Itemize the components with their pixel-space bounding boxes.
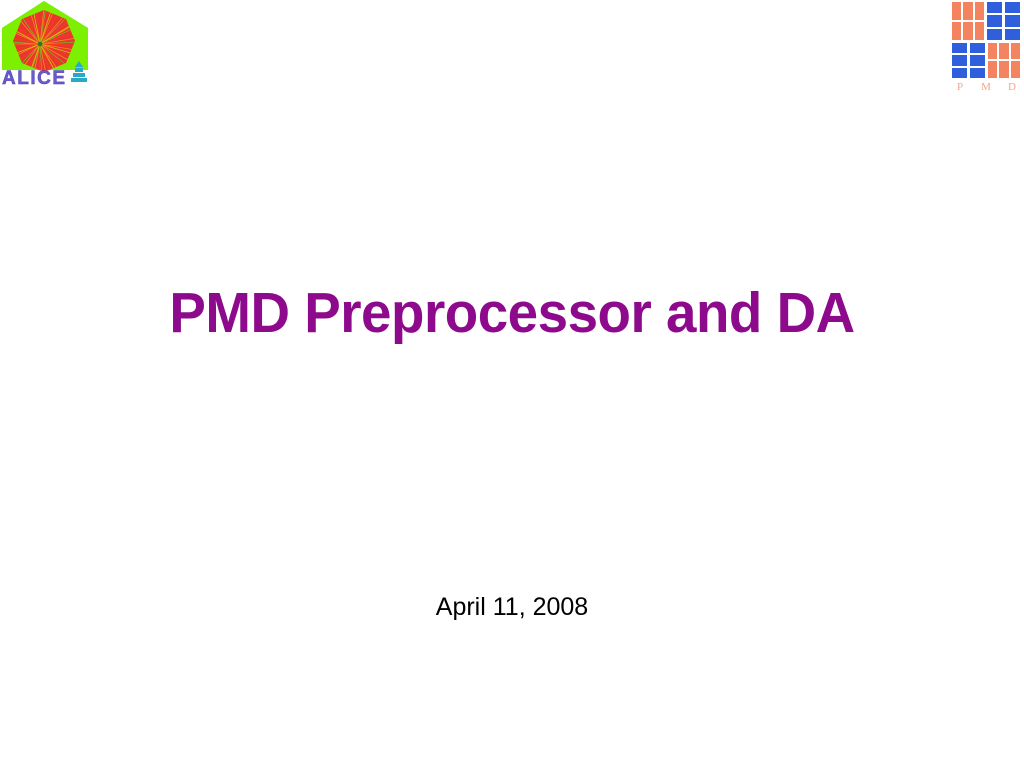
slide-canvas: ALICE — [0, 0, 1024, 768]
subtitle-placeholder: April 11, 2008 — [0, 592, 1024, 622]
pmd-bar — [988, 61, 997, 78]
pmd-bar — [1005, 29, 1020, 40]
pmd-bar — [952, 22, 961, 40]
pmd-block-blue-tr-1 — [987, 2, 1002, 40]
pmd-block-blue-bl-2 — [970, 43, 985, 78]
pmd-bar — [952, 68, 967, 78]
alice-experiment-logo: ALICE — [0, 0, 92, 92]
pmd-block-blue-bl-1 — [952, 43, 967, 78]
title-placeholder: PMD Preprocessor and DA — [0, 282, 1024, 346]
pmd-bar — [987, 2, 1002, 13]
pmd-bar — [952, 2, 961, 20]
slide-title: PMD Preprocessor and DA — [20, 282, 1003, 346]
pmd-bar — [1011, 61, 1020, 78]
pmd-bar — [1011, 43, 1020, 59]
pmd-block-orange-tl-2 — [952, 22, 984, 40]
pmd-bar — [975, 22, 984, 40]
pmd-bar — [970, 55, 985, 65]
pmd-bar — [970, 43, 985, 53]
pmd-bar — [988, 43, 997, 59]
pmd-block-blue-tr-2 — [1005, 2, 1020, 40]
pmd-block-orange-br-1 — [988, 43, 1020, 59]
pmd-bar — [963, 22, 972, 40]
pmd-bar — [952, 55, 967, 65]
pmd-bar — [963, 2, 972, 20]
slide-date: April 11, 2008 — [0, 592, 1024, 622]
pmd-bar — [1005, 2, 1020, 13]
pmd-bar — [999, 61, 1008, 78]
alice-logo-graphic: ALICE — [0, 0, 92, 92]
pmd-bar — [970, 68, 985, 78]
pmd-logo-labels: P M D — [952, 79, 1020, 95]
pmd-block-orange-tl-1 — [952, 2, 984, 20]
pmd-bar — [952, 43, 967, 53]
pmd-detector-logo: P M D — [952, 0, 1024, 98]
pmd-label-m: M — [978, 82, 994, 93]
pmd-bar — [975, 2, 984, 20]
pmd-bar — [987, 29, 1002, 40]
pmd-bar — [987, 15, 1002, 26]
pmd-bar — [1005, 15, 1020, 26]
pmd-block-orange-br-2 — [988, 61, 1020, 78]
pmd-label-p: P — [952, 82, 968, 93]
pmd-logo-grid — [952, 2, 1020, 78]
pmd-label-d: D — [1004, 82, 1020, 93]
alice-wordmark: ALICE — [2, 68, 67, 89]
pmd-bar — [999, 43, 1008, 59]
